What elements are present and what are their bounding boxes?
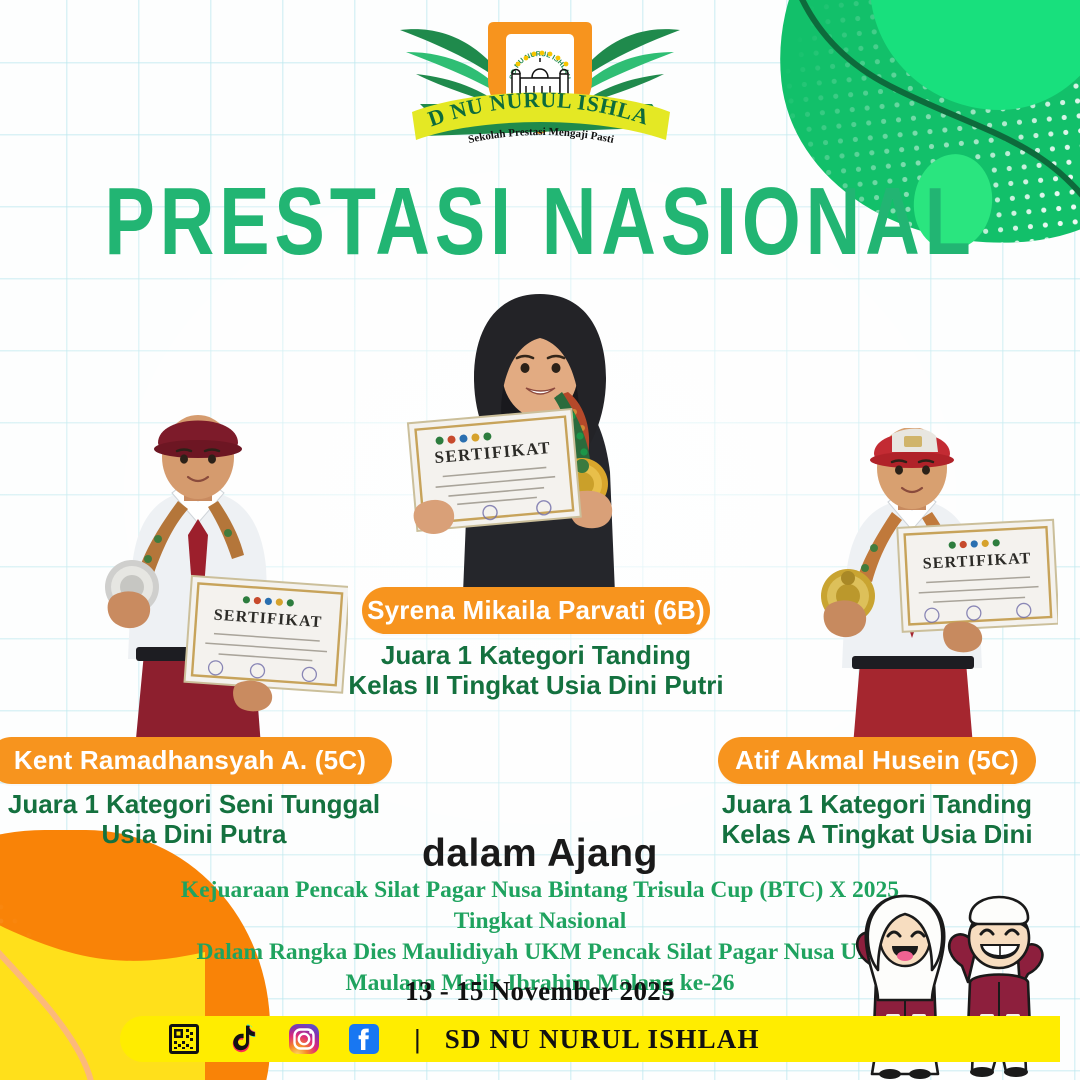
name-badge-kent[interactable]: Kent Ramadhansyah A. (5C) xyxy=(0,737,392,784)
page-title: PRESTASI NASIONAL xyxy=(16,166,1064,277)
light-green-blob-decoration xyxy=(870,0,1080,110)
footer-bar: | SD NU NURUL ISHLAH xyxy=(120,1016,1060,1062)
footer-account-name: SD NU NURUL ISHLAH xyxy=(445,1024,760,1055)
instagram-icon[interactable] xyxy=(288,1023,320,1055)
tiktok-icon[interactable] xyxy=(228,1023,260,1055)
event-lead-text: dalam Ajang xyxy=(0,832,1080,876)
award-photo-syrena: SERTIFIKAT xyxy=(390,288,690,618)
award-caption-syrena: Juara 1 Kategori Tanding Kelas II Tingka… xyxy=(330,640,742,701)
award-photo-atif: SERTIFIKAT xyxy=(768,428,1058,758)
award-photo-kent: SERTIFIKAT xyxy=(48,415,348,760)
qr-code-icon[interactable] xyxy=(168,1023,200,1055)
name-badge-atif[interactable]: Atif Akmal Husein (5C) xyxy=(718,737,1036,784)
school-logo: SD NU NURUL ISHLAH xyxy=(390,8,690,168)
name-badge-syrena[interactable]: Syrena Mikaila Parvati (6B) xyxy=(362,587,710,634)
facebook-icon[interactable] xyxy=(348,1023,380,1055)
footer-separator: | xyxy=(414,1026,421,1052)
poster-canvas: SD NU NURUL ISHLAH xyxy=(0,0,1080,1080)
